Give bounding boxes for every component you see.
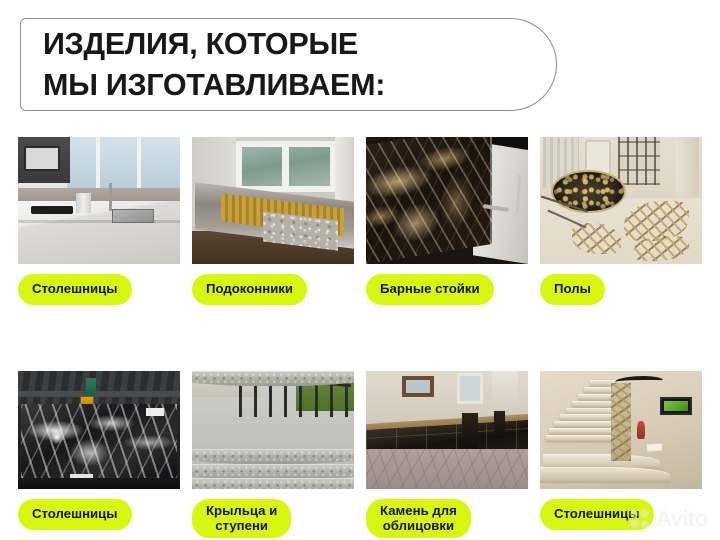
product-cell-bar-counters[interactable]: Барные стойки (366, 137, 528, 305)
photo-black-stone-facade-cladding (366, 371, 528, 489)
photo-granite-porch-steps (192, 371, 354, 489)
product-label-countertops-3: Столешницы (540, 499, 654, 530)
page-title-line-2: МЫ ИЗГОТАВЛИВАЕМ: (43, 65, 556, 106)
product-cell-cladding-stone[interactable]: Камень для облицовки (366, 371, 528, 538)
photo-dark-marble-slab-on-crane (18, 371, 180, 489)
product-label-floors: Полы (540, 274, 605, 305)
photo-granite-windowsill (192, 137, 354, 264)
product-label-countertops-1: Столешницы (18, 274, 132, 305)
product-label-windowsills: Подоконники (192, 274, 307, 305)
product-cell-countertops-stairs[interactable]: Столешницы (540, 371, 702, 538)
photo-brown-marble-bar-counter (366, 137, 528, 264)
product-label-bar-counters: Барные стойки (366, 274, 494, 305)
header-pill: ИЗДЕЛИЯ, КОТОРЫЕ МЫ ИЗГОТАВЛИВАЕМ: (20, 18, 557, 111)
page-title-line-1: ИЗДЕЛИЯ, КОТОРЫЕ (43, 24, 556, 65)
advert-banner: ИЗДЕЛИЯ, КОТОРЫЕ МЫ ИЗГОТАВЛИВАЕМ: Сто (0, 0, 720, 540)
product-cell-floors[interactable]: Полы (540, 137, 702, 305)
photo-marble-staircase (540, 371, 702, 489)
product-label-cladding-stone: Камень для облицовки (366, 499, 471, 538)
product-grid: Столешницы Подоконники (18, 137, 702, 538)
product-label-porches-steps: Крыльца и ступени (192, 499, 291, 538)
product-cell-windowsills[interactable]: Подоконники (192, 137, 354, 305)
product-cell-porches-steps[interactable]: Крыльца и ступени (192, 371, 354, 538)
product-cell-countertops-kitchen[interactable]: Столешницы (18, 137, 180, 305)
photo-white-kitchen-countertop (18, 137, 180, 264)
product-cell-countertops-slab[interactable]: Столешницы (18, 371, 180, 538)
photo-ornate-marble-inlay-floor (540, 137, 702, 264)
product-label-countertops-2: Столешницы (18, 499, 132, 530)
